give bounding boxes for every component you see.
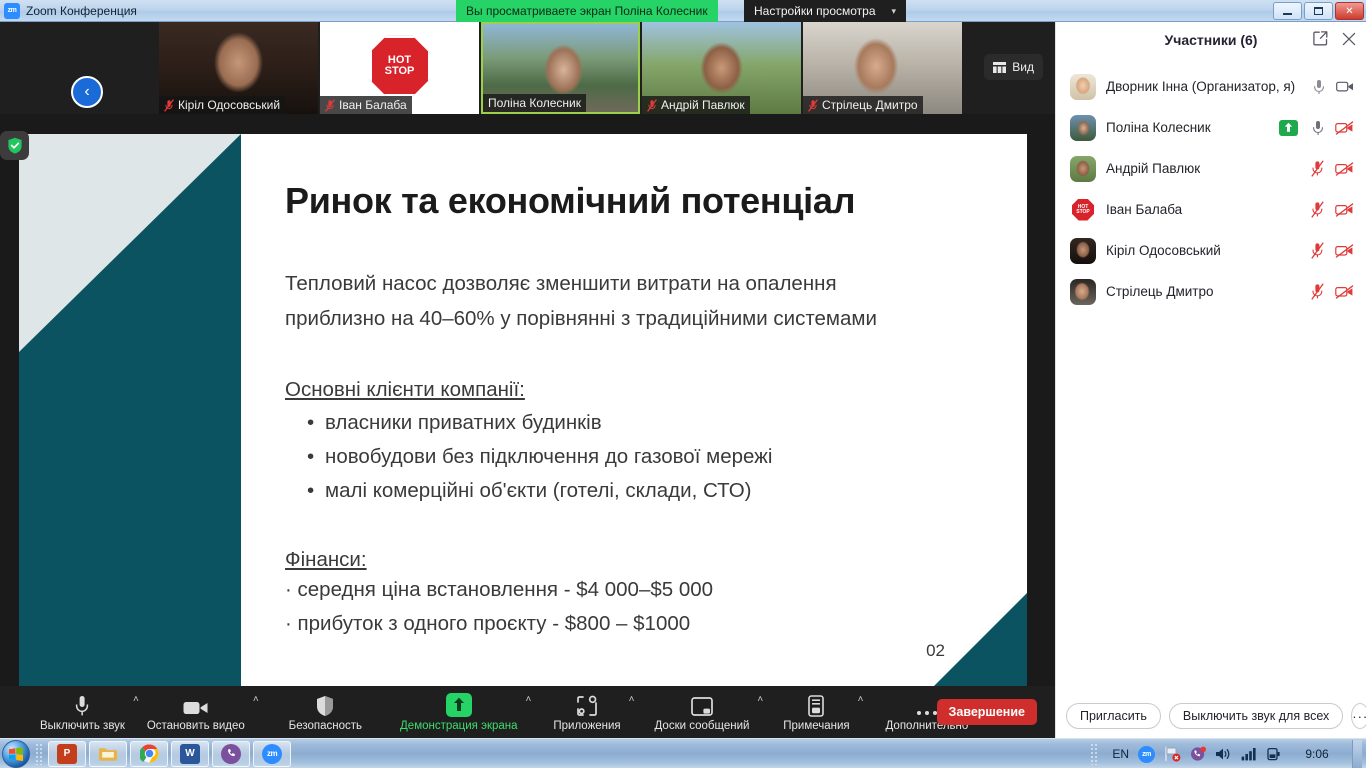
notes-icon xyxy=(808,693,824,717)
avatar xyxy=(1070,238,1096,264)
mute-all-label: Выключить звук для всех xyxy=(1183,709,1329,723)
mic-muted-icon xyxy=(164,99,174,112)
participant-row-andrii[interactable]: Андрій Павлюк xyxy=(1056,148,1366,189)
close-icon: ✕ xyxy=(1345,6,1353,17)
window-title-bar: zm Zoom Конференция Вы просматриваете эк… xyxy=(0,0,1366,22)
participant-status-icons xyxy=(1311,201,1354,218)
camera-muted-icon[interactable] xyxy=(1335,121,1354,135)
slide-body: Ринок та економічний потенціал Тепловий … xyxy=(285,134,1027,693)
mic-muted-icon[interactable] xyxy=(1311,201,1324,218)
participant-name: Стрілець Дмитро xyxy=(1106,284,1301,299)
stop-video-label: Остановить видео xyxy=(147,720,245,732)
screen-share-banner: Вы просматриваете экран Поліна Колесник xyxy=(456,0,718,22)
shield-check-glyph xyxy=(7,137,23,154)
thumbnail-name-row: Кіріл Одосовський xyxy=(159,96,285,114)
more-dots-icon xyxy=(916,693,938,717)
stop-video-button[interactable]: Остановить видео xyxy=(141,686,251,738)
screen-root: zm Zoom Конференция Вы просматриваете эк… xyxy=(0,0,1366,768)
close-icon[interactable] xyxy=(1342,32,1356,46)
participant-name: Іван Балаба xyxy=(1106,202,1301,217)
slide-page-number: 02 xyxy=(926,641,945,661)
taskbar-app-file-explorer[interactable] xyxy=(89,741,127,767)
whiteboard-icon xyxy=(691,693,713,717)
zoom-toolbar: Выключить звук ˄ Остановить видео ˄ xyxy=(0,686,1055,738)
chevron-left-icon: ‹ xyxy=(84,83,89,101)
language-indicator[interactable]: EN xyxy=(1112,747,1129,761)
participant-name: Поліна Колесник xyxy=(1106,120,1269,135)
avatar xyxy=(1070,156,1096,182)
invite-button[interactable]: Пригласить xyxy=(1066,703,1161,729)
thumbnail-name: Поліна Колесник xyxy=(488,96,581,110)
security-label: Безопасность xyxy=(289,720,362,732)
chevron-down-icon: ▾ xyxy=(892,6,897,17)
start-orb-icon[interactable] xyxy=(2,740,30,768)
view-button[interactable]: Вид xyxy=(984,54,1043,80)
list-item: власники приватних будинків xyxy=(305,406,772,440)
thumbnail-name: Андрій Павлюк xyxy=(661,98,745,112)
maximize-button[interactable] xyxy=(1304,2,1333,20)
participants-more-button[interactable]: ··· xyxy=(1351,703,1366,729)
participants-panel-footer: Пригласить Выключить звук для всех ··· xyxy=(1056,694,1366,738)
zoom-logo-icon: zm xyxy=(4,3,20,19)
shield-check-icon[interactable] xyxy=(0,131,29,160)
taskbar-app-viber[interactable] xyxy=(212,741,250,767)
notes-label: Примечания xyxy=(783,720,849,732)
apps-button[interactable]: Приложения xyxy=(547,686,626,738)
view-settings-button[interactable]: Настройки просмотра ▾ xyxy=(744,0,906,22)
thumbnail-polina[interactable]: Поліна Колесник xyxy=(481,22,640,114)
share-screen-label: Демонстрация экрана xyxy=(400,720,518,732)
minimize-icon xyxy=(1283,13,1292,15)
thumbnail-name: Стрілець Дмитро xyxy=(822,98,918,112)
network-icon[interactable] xyxy=(1241,747,1258,761)
notes-options-caret[interactable]: ˄ xyxy=(856,694,866,705)
apps-label: Приложения xyxy=(553,720,620,732)
end-meeting-label: Завершение xyxy=(949,705,1025,719)
thumbnail-kiril[interactable]: Кіріл Одосовський xyxy=(159,22,318,114)
participant-name: Андрій Павлюк xyxy=(1106,161,1301,176)
slide-finance-line-1: · середня ціна встановлення - $4 000–$5 … xyxy=(285,578,713,602)
thumbnail-name: Кіріл Одосовський xyxy=(178,98,280,112)
thumbnail-name-row: Андрій Павлюк xyxy=(642,96,750,114)
microphone-icon[interactable] xyxy=(1313,79,1325,95)
participants-panel-actions xyxy=(1313,31,1356,46)
close-button[interactable]: ✕ xyxy=(1335,2,1364,20)
participants-panel-header: Участники (6) xyxy=(1056,22,1366,58)
action-center-flag-icon[interactable] xyxy=(1164,746,1181,762)
whiteboard-label: Доски сообщений xyxy=(655,720,750,732)
participants-panel: Участники (6) Дворник Ін xyxy=(1055,22,1366,738)
slide-finance-heading: Фінанси: xyxy=(285,542,1015,577)
zoom-main-area: Кіріл Одосовський HOTSTOP Іван Балаба xyxy=(0,22,1055,738)
participants-list: Дворник Інна (Организатор, я) Полі xyxy=(1056,58,1366,312)
microphone-icon[interactable] xyxy=(1312,120,1324,136)
thumbnail-name-row: Стрілець Дмитро xyxy=(803,96,923,114)
thumbnail-dmytro[interactable]: Стрілець Дмитро xyxy=(803,22,962,114)
power-icon[interactable] xyxy=(1267,746,1282,762)
camera-icon[interactable] xyxy=(1336,80,1354,93)
list-item: малі комерційні об'єкти (готелі, склади,… xyxy=(305,474,772,508)
participant-row-ivan[interactable]: HOTSTOP Іван Балаба xyxy=(1056,189,1366,230)
mic-muted-icon xyxy=(808,99,818,112)
window-title: Zoom Конференция xyxy=(26,4,137,18)
participant-row-kiril[interactable]: Кіріл Одосовський xyxy=(1056,230,1366,271)
participant-status-icons xyxy=(1311,283,1354,300)
thumbnail-name: Іван Балаба xyxy=(339,98,407,112)
mute-audio-label: Выключить звук xyxy=(40,720,125,732)
file-explorer-icon xyxy=(98,744,118,764)
mic-muted-icon[interactable] xyxy=(1311,283,1324,300)
list-item: новобудови без підключення до газової ме… xyxy=(305,440,772,474)
more-dots-icon: ··· xyxy=(1352,709,1366,724)
system-tray: EN zm xyxy=(1085,739,1366,768)
mic-muted-icon xyxy=(325,99,335,112)
mic-muted-icon[interactable] xyxy=(1311,242,1324,259)
viber-icon xyxy=(221,744,241,764)
camera-muted-icon[interactable] xyxy=(1335,244,1354,258)
mic-muted-icon[interactable] xyxy=(1311,160,1324,177)
thumbnail-andrii[interactable]: Андрій Павлюк xyxy=(642,22,801,114)
thumbnail-name-row: Іван Балаба xyxy=(320,96,412,114)
end-meeting-button[interactable]: Завершение xyxy=(937,699,1037,725)
whiteboard-button[interactable]: Доски сообщений xyxy=(649,686,756,738)
slide-clients-list: власники приватних будинків новобудови б… xyxy=(305,406,772,508)
security-button[interactable]: Безопасность xyxy=(283,686,368,738)
taskbar-app-chrome[interactable] xyxy=(130,741,168,767)
view-settings-label: Настройки просмотра xyxy=(754,4,876,18)
thumbnail-ivan[interactable]: HOTSTOP Іван Балаба xyxy=(320,22,479,114)
share-screen-icon xyxy=(446,693,472,717)
slide-finance-line-2: · прибуток з одного проєкту - $800 – $10… xyxy=(285,612,690,636)
avatar xyxy=(1070,115,1096,141)
camera-muted-icon[interactable] xyxy=(1335,203,1354,217)
participant-thumbnail-strip: Кіріл Одосовський HOTSTOP Іван Балаба xyxy=(0,22,1055,114)
whiteboard-options-caret[interactable]: ˄ xyxy=(755,694,765,705)
taskbar-app-zoom[interactable]: zm xyxy=(253,741,291,767)
share-options-caret[interactable]: ˄ xyxy=(524,694,534,705)
participant-row-dmytro[interactable]: Стрілець Дмитро xyxy=(1056,271,1366,312)
windows-taskbar: P W xyxy=(0,738,1366,768)
participant-status-icons xyxy=(1313,79,1354,95)
taskbar-clock[interactable]: 9:06 xyxy=(1291,747,1343,761)
taskbar-grip xyxy=(35,743,43,765)
slide-intro-paragraph: Тепловий насос дозволяє зменшити витрати… xyxy=(285,266,1015,336)
video-options-caret[interactable]: ˄ xyxy=(251,694,261,705)
sharing-screen-badge-icon xyxy=(1279,120,1298,136)
invite-label: Пригласить xyxy=(1080,709,1147,723)
share-screen-button[interactable]: Демонстрация экрана xyxy=(394,686,524,738)
camera-icon xyxy=(183,693,209,717)
avatar xyxy=(1070,279,1096,305)
zoom-tray-icon[interactable]: zm xyxy=(1138,746,1155,763)
participant-row-polina[interactable]: Поліна Колесник xyxy=(1056,107,1366,148)
taskbar-app-word[interactable]: W xyxy=(171,741,209,767)
slide-title: Ринок та економічний потенціал xyxy=(285,180,855,222)
participant-status-icons xyxy=(1279,120,1354,136)
mute-all-button[interactable]: Выключить звук для всех xyxy=(1169,703,1343,729)
window-controls: ✕ xyxy=(1273,2,1364,20)
powerpoint-icon: P xyxy=(57,744,77,764)
notes-button[interactable]: Примечания xyxy=(777,686,855,738)
stop-sign-avatar-icon: HOTSTOP xyxy=(1072,199,1094,221)
slide-intro-line-1: Тепловий насос дозволяє зменшити витрати… xyxy=(285,272,837,295)
avatar: HOTSTOP xyxy=(1070,197,1096,223)
participant-status-icons xyxy=(1311,160,1354,177)
back-button[interactable]: ‹ xyxy=(71,76,103,108)
volume-icon[interactable] xyxy=(1215,747,1232,761)
viber-tray-icon[interactable] xyxy=(1190,746,1206,762)
zoom-icon: zm xyxy=(262,744,282,764)
participants-panel-title: Участники (6) xyxy=(1165,32,1258,48)
slide-accent-triangle xyxy=(19,134,241,693)
minimize-button[interactable] xyxy=(1273,2,1302,20)
participant-row-inna[interactable]: Дворник Інна (Организатор, я) xyxy=(1056,66,1366,107)
slide-intro-line-2: приблизно на 40–60% у порівнянні з тради… xyxy=(285,307,877,330)
stop-sign-avatar-icon: HOTSTOP xyxy=(369,35,431,97)
slide-clients-heading: Основні клієнти компанії: xyxy=(285,372,1015,407)
participant-name: Кіріл Одосовський xyxy=(1106,243,1301,258)
shield-icon xyxy=(316,693,334,717)
grid-view-icon xyxy=(993,62,1006,73)
view-button-label: Вид xyxy=(1012,60,1034,74)
mute-audio-button[interactable]: Выключить звук xyxy=(34,686,131,738)
avatar xyxy=(1070,74,1096,100)
screen-share-banner-label: Вы просматриваете экран Поліна Колесник xyxy=(466,4,708,18)
word-icon: W xyxy=(180,744,200,764)
slide-left-panel xyxy=(19,134,241,693)
participant-status-icons xyxy=(1311,242,1354,259)
maximize-icon xyxy=(1314,7,1323,15)
participant-name: Дворник Інна (Организатор, я) xyxy=(1106,79,1303,94)
tray-grip xyxy=(1090,743,1098,765)
audio-options-caret[interactable]: ˄ xyxy=(131,694,141,705)
taskbar-app-powerpoint[interactable]: P xyxy=(48,741,86,767)
presentation-slide: Ринок та економічний потенціал Тепловий … xyxy=(19,134,1027,693)
microphone-icon xyxy=(75,693,89,717)
popout-icon[interactable] xyxy=(1313,31,1328,46)
google-chrome-icon xyxy=(139,744,159,764)
camera-muted-icon[interactable] xyxy=(1335,285,1354,299)
camera-muted-icon[interactable] xyxy=(1335,162,1354,176)
shared-screen-stage: Ринок та економічний потенціал Тепловий … xyxy=(0,114,1055,708)
apps-options-caret[interactable]: ˄ xyxy=(627,694,637,705)
show-desktop-button[interactable] xyxy=(1352,740,1362,768)
apps-icon xyxy=(576,693,598,717)
thumbnail-name-row: Поліна Колесник xyxy=(483,94,586,112)
mic-muted-icon xyxy=(647,99,657,112)
